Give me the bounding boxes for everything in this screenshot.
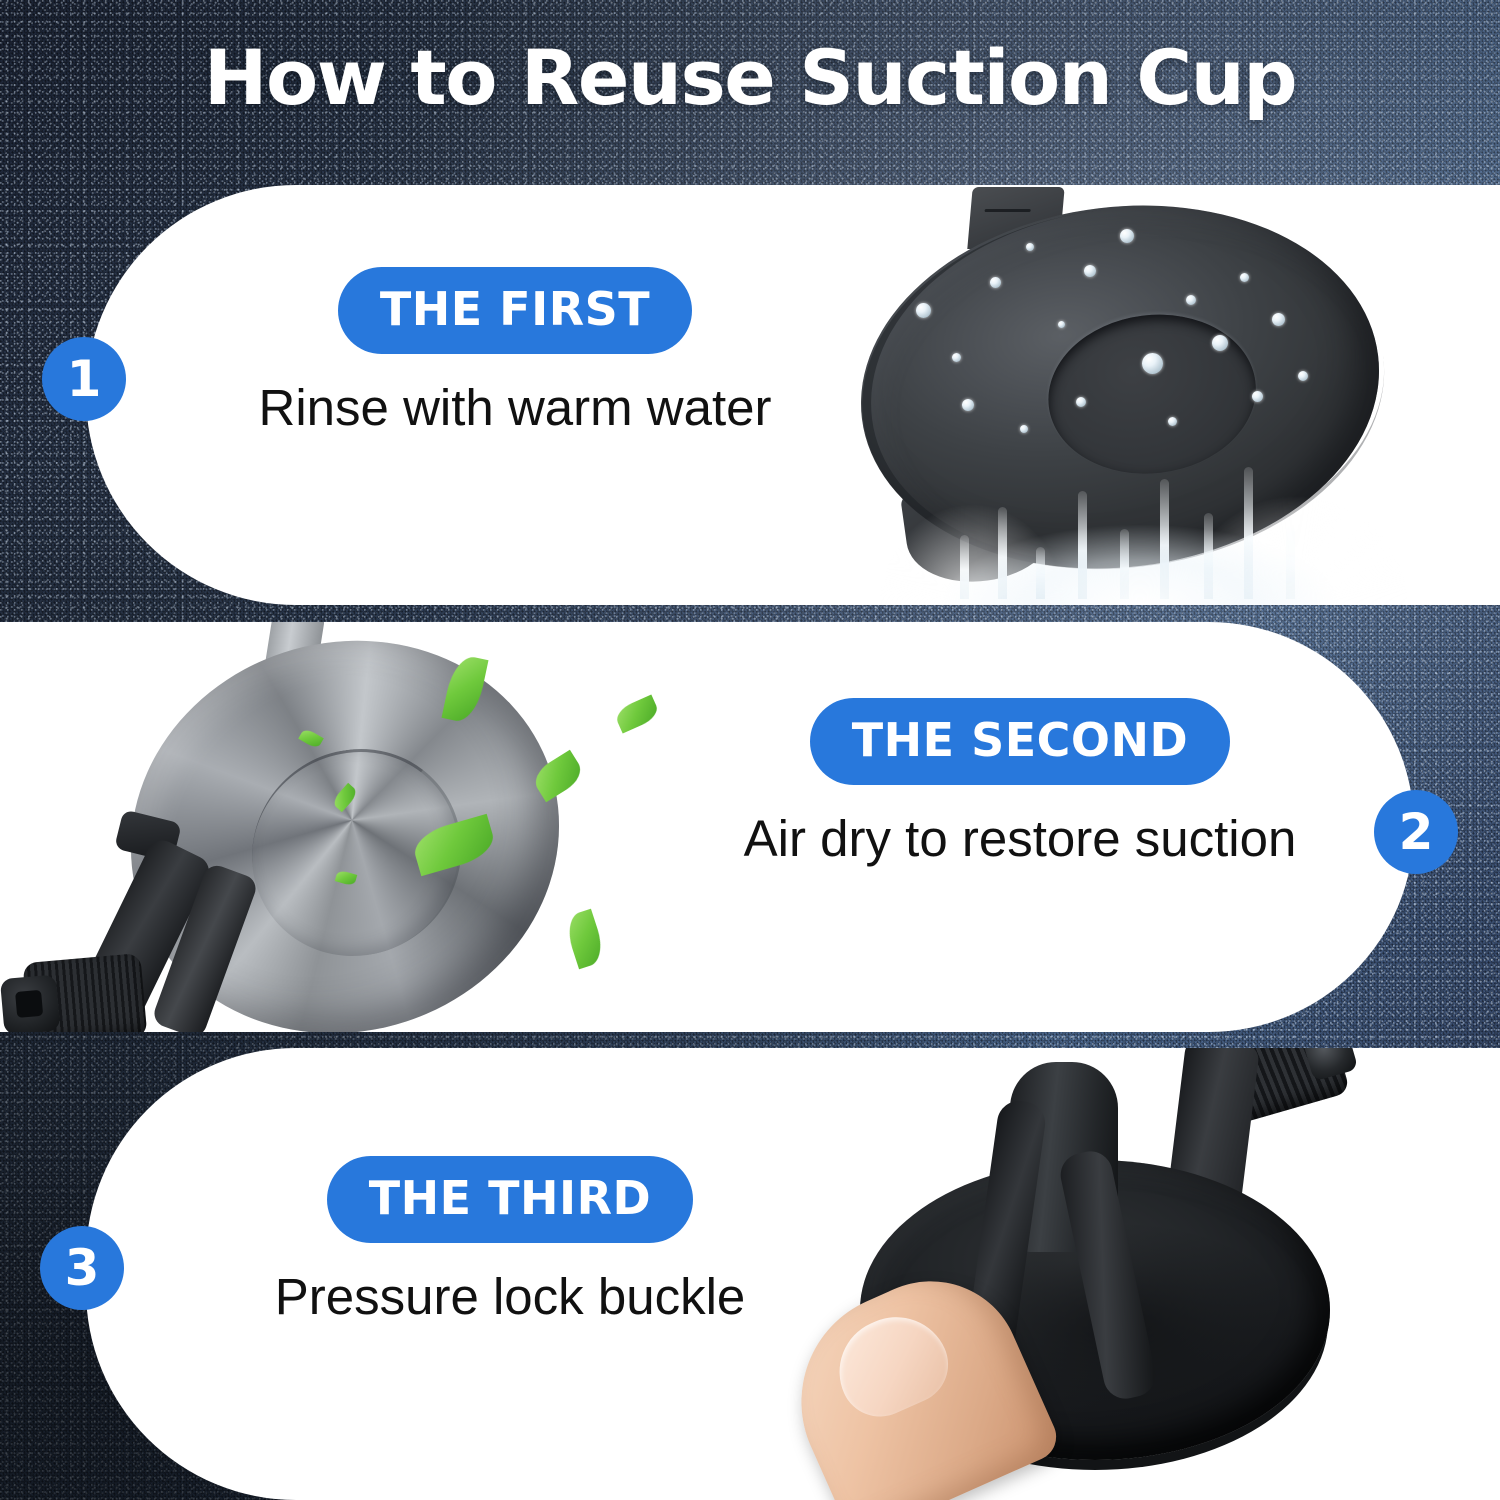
step-2-number-badge: 2 <box>1374 790 1458 874</box>
water-droplet <box>962 399 974 411</box>
step-3-caption: Pressure lock buckle <box>205 1269 815 1325</box>
water-droplet <box>1058 321 1065 328</box>
step-2-caption: Air dry to restore suction <box>690 811 1350 867</box>
water-droplet <box>1212 335 1228 351</box>
water-droplet <box>1168 417 1177 426</box>
step-2-image-air-drying-suction-cup <box>0 622 680 1032</box>
water-droplet <box>1186 295 1196 305</box>
green-leaf <box>613 694 661 733</box>
adjustment-knob <box>23 953 148 1032</box>
step-2-text-block: THE SECOND Air dry to restore suction <box>690 698 1350 867</box>
water-droplet <box>990 277 1001 288</box>
step-3-image-pressing-lock-buckle <box>790 1048 1470 1500</box>
step-2-pill-label: THE SECOND <box>810 698 1230 785</box>
water-droplet <box>916 303 931 318</box>
water-droplet <box>952 353 961 362</box>
water-droplet <box>1298 371 1308 381</box>
mount-bracket <box>20 840 310 1032</box>
water-droplet <box>1020 425 1028 433</box>
step-1-number-badge: 1 <box>42 337 126 421</box>
step-1-pill-label: THE FIRST <box>338 267 692 354</box>
water-splash <box>840 445 1440 605</box>
water-droplet <box>1240 273 1249 282</box>
water-droplet <box>1142 353 1163 374</box>
step-1-image-suction-cup-water-splash <box>820 185 1460 605</box>
step-row-3: THE THIRD Pressure lock buckle 3 <box>0 1048 1500 1500</box>
how-to-reuse-suction-cup-infographic: How to Reuse Suction Cup <box>0 0 1500 1500</box>
step-row-1: THE FIRST Rinse with warm water 1 <box>0 185 1500 605</box>
fingernail <box>823 1300 961 1429</box>
water-droplet <box>1272 313 1285 326</box>
step-row-2: THE SECOND Air dry to restore suction 2 <box>0 622 1500 1032</box>
water-droplet <box>1084 265 1096 277</box>
water-droplet <box>1120 229 1134 243</box>
step-1-text-block: THE FIRST Rinse with warm water <box>215 267 815 436</box>
green-leaf <box>562 909 607 970</box>
water-droplet <box>1252 391 1263 402</box>
water-droplet <box>1076 397 1086 407</box>
step-3-number-badge: 3 <box>40 1226 124 1310</box>
water-droplet <box>1026 243 1034 251</box>
page-title: How to Reuse Suction Cup <box>0 40 1500 116</box>
step-3-text-block: THE THIRD Pressure lock buckle <box>205 1156 815 1325</box>
step-3-pill-label: THE THIRD <box>327 1156 693 1243</box>
step-1-caption: Rinse with warm water <box>215 380 815 436</box>
